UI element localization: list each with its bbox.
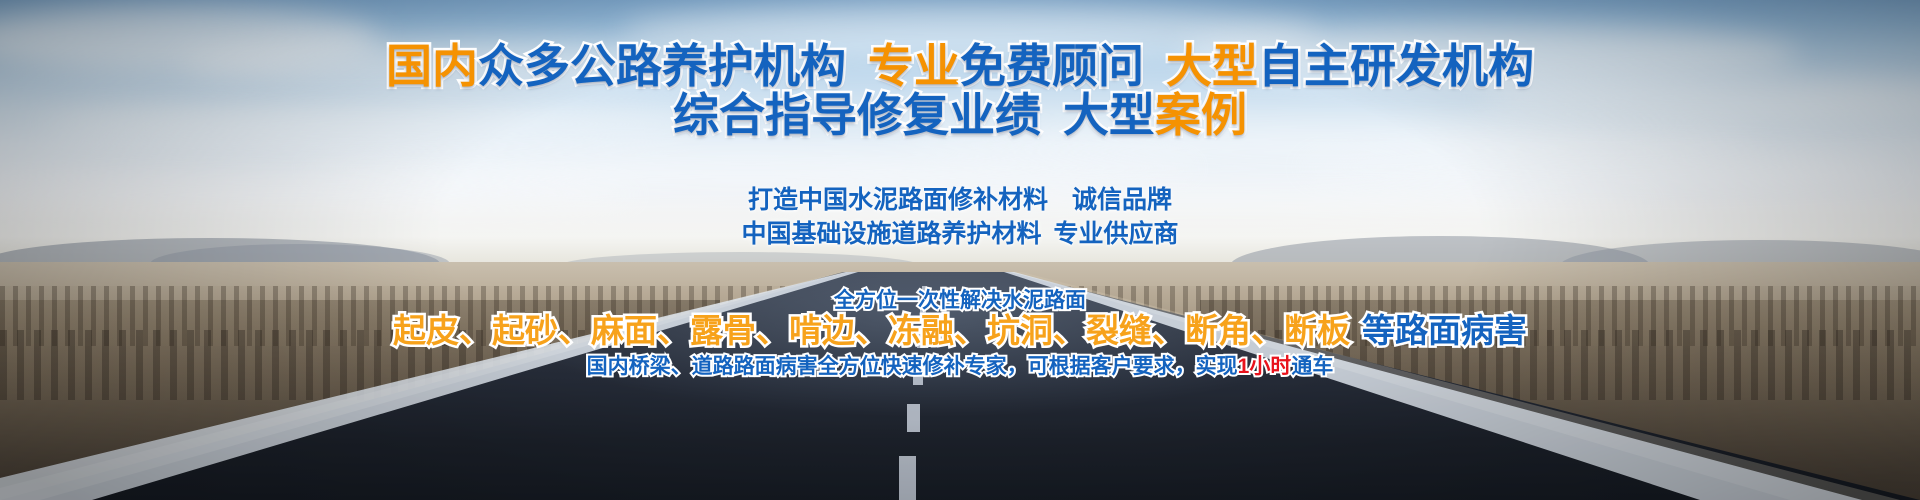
road-defects-block: 起皮、起砂、麻面、露骨、啃边、冻融、坑洞、裂缝、断角、断板等路面病害 — [0, 311, 1920, 351]
road-closing-block: 国内桥梁、道路路面病害全方位快速修补专家，可根据客户要求，实现1小时通车 — [0, 354, 1920, 379]
closing-highlight-duration: 1小时 — [1238, 355, 1292, 378]
headline-1-seg-4: 免费顾问 — [960, 40, 1144, 92]
headline-1-seg-6: 自主研发机构 — [1258, 40, 1534, 92]
road-closing-line: 国内桥梁、道路路面病害全方位快速修补专家，可根据客户要求，实现1小时通车 — [587, 354, 1334, 379]
headline-2-seg-1: 综合指导修复业绩 — [673, 89, 1041, 141]
subheadline-1b: 诚信品牌 — [1072, 186, 1172, 214]
defect-list-text: 起皮、起砂、麻面、露骨、啃边、冻融、坑洞、裂缝、断角、断板 — [393, 312, 1350, 349]
subheadline-line-1: 打造中国水泥路面修补材料诚信品牌 — [0, 183, 1920, 217]
headline-2-seg-3: 案例 — [1155, 89, 1247, 141]
headline-line-2: 综合指导修复业绩大型案例 — [0, 91, 1920, 140]
headline-1-seg-2: 众多公路养护机构 — [478, 40, 846, 92]
road-defects-line: 起皮、起砂、麻面、露骨、啃边、冻融、坑洞、裂缝、断角、断板等路面病害 — [393, 311, 1527, 351]
subheadline-block: 打造中国水泥路面修补材料诚信品牌 中国基础设施道路养护材料专业供应商 — [0, 183, 1920, 251]
subheadline-line-2: 中国基础设施道路养护材料专业供应商 — [0, 217, 1920, 251]
subheadline-2b: 专业供应商 — [1054, 220, 1179, 248]
headline-block: 国内众多公路养护机构专业免费顾问大型自主研发机构 综合指导修复业绩大型案例 — [0, 42, 1920, 140]
subheadline-1a: 打造中国水泥路面修补材料 — [748, 186, 1048, 214]
headline-1-seg-1: 国内 — [386, 40, 478, 92]
subheadline-2a: 中国基础设施道路养护材料 — [741, 220, 1041, 248]
promo-banner: 国内众多公路养护机构专业免费顾问大型自主研发机构 综合指导修复业绩大型案例 打造… — [0, 0, 1920, 500]
banner-text-layer: 国内众多公路养护机构专业免费顾问大型自主研发机构 综合指导修复业绩大型案例 打造… — [0, 0, 1920, 500]
headline-1-seg-3: 专业 — [868, 40, 960, 92]
defect-suffix-text: 等路面病害 — [1362, 312, 1527, 349]
headline-2-seg-2: 大型 — [1063, 89, 1155, 141]
headline-1-seg-5: 大型 — [1166, 40, 1258, 92]
headline-line-1: 国内众多公路养护机构专业免费顾问大型自主研发机构 — [0, 42, 1920, 91]
closing-seg-1: 国内桥梁、道路路面病害全方位快速修补专家，可根据客户要求，实现 — [587, 355, 1238, 378]
closing-seg-3: 通车 — [1291, 355, 1333, 378]
